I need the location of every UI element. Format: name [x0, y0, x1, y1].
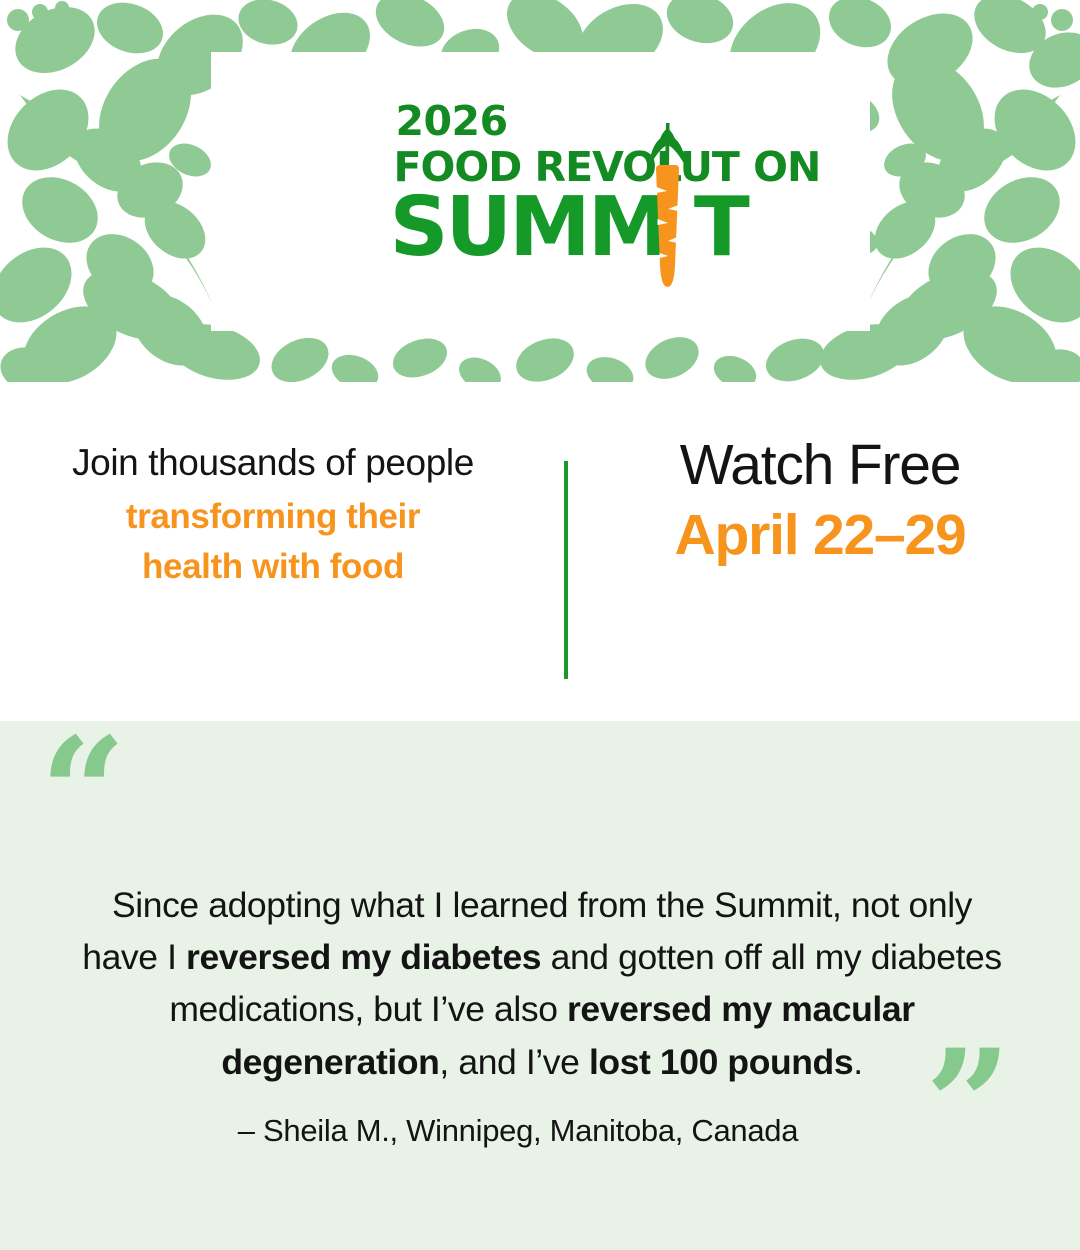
testimonial-attribution: – Sheila M., Winnipeg, Manitoba, Canada	[78, 1113, 958, 1149]
logo-year: 2026	[396, 101, 508, 142]
tagline-section: Join thousands of people transforming th…	[0, 382, 1080, 721]
logo-summit-before: SUMM	[390, 180, 667, 275]
testimonial-quote: Since adopting what I learned from the S…	[78, 879, 1006, 1088]
watch-block: Watch Free April 22–29	[580, 434, 1060, 568]
logo-summit-after: T	[694, 180, 747, 275]
logo-card: 2026 FOOD REVOLUTION SUMMIT	[211, 52, 870, 331]
close-quote-mark: ”	[925, 1030, 1007, 1180]
summit-logo: 2026 FOOD REVOLUTION SUMMIT	[306, 97, 776, 287]
testimonial-section: Since adopting what I learned from the S…	[0, 721, 1080, 1250]
watch-free-label: Watch Free	[580, 434, 1060, 498]
carrot-icon	[641, 115, 691, 290]
logo-revolution-after: ON	[753, 143, 820, 191]
vertical-divider	[564, 461, 568, 679]
logo-line-summit: SUMMIT	[390, 187, 747, 269]
header-band: 2026 FOOD REVOLUTION SUMMIT	[0, 0, 1080, 382]
tagline-highlight-line1: transforming their	[0, 492, 546, 542]
event-dates: April 22–29	[580, 502, 1060, 568]
tagline-block: Join thousands of people transforming th…	[0, 440, 546, 592]
promo-poster: 2026 FOOD REVOLUTION SUMMIT	[0, 0, 1080, 1250]
tagline-highlight: transforming their health with food	[0, 492, 546, 591]
open-quote-mark: “	[40, 718, 122, 868]
tagline-plain: Join thousands of people	[0, 440, 546, 486]
tagline-highlight-line2: health with food	[0, 542, 546, 592]
